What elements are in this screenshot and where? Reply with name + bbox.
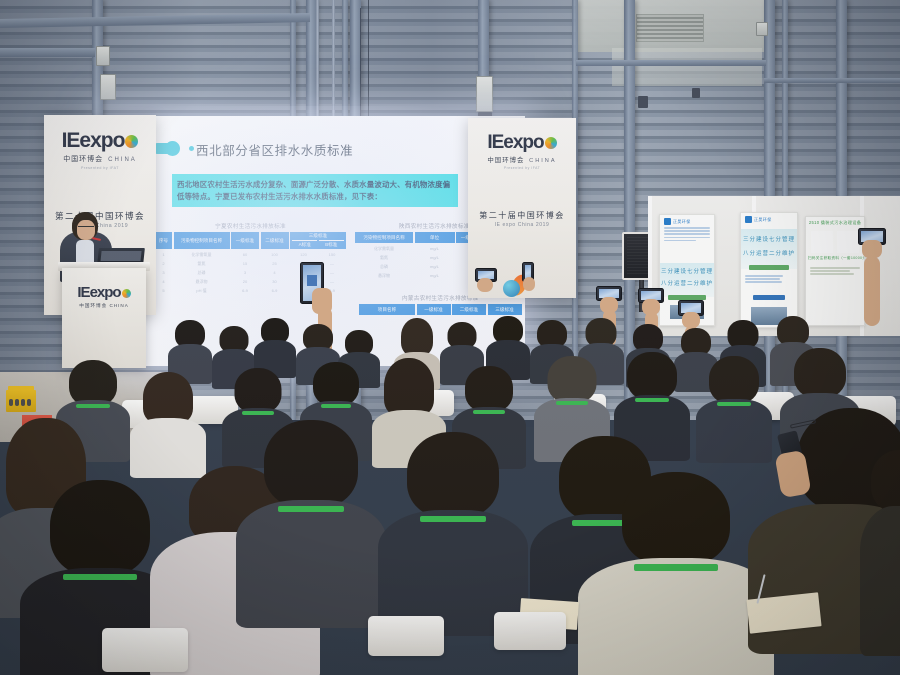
attendee-front [378,432,528,632]
logo-expo-text: expo [79,129,124,152]
cell: 100 [261,251,289,260]
booth-poster-2[interactable]: 正昊环保 三分建设七分管理 八分运营二分维护 [740,212,798,328]
cyan-dot-icon [189,146,194,151]
attendee-far [168,320,212,380]
chair [102,628,188,672]
podium-logo-ie: IE [77,284,89,301]
body [578,558,774,675]
logo-orb-icon [125,135,138,148]
poster-headline-top-1: 三分建设七分管理 [660,267,714,275]
wall-crossbeam-2 [0,48,95,57]
head [384,358,434,416]
banner-right-logo: IEexpo 中国环博会 CHINA Presented by IFAT [468,118,576,170]
cell: 总磷 [355,263,413,272]
cell: 1 [155,251,172,260]
brand-name: 正昊环保 [673,219,691,225]
cell: mg/L [415,245,455,254]
poster-brand-2: 正昊环保 [741,213,797,223]
cell: 3 [155,269,172,278]
head [313,362,359,406]
cell: 氨氮 [174,260,230,269]
th-item: 污染物控制项目名称 [174,232,230,249]
speaker-glasses-icon [78,226,94,229]
phone-holding-hand [523,277,535,291]
attendee-mid [130,372,206,472]
ieexpo-logotype-right: IEexpo [487,132,556,154]
cell: mg/L [415,263,455,272]
lanyard [420,516,486,522]
cell: 悬浮物 [174,277,230,286]
logo-presented-text: Presented by IFAT [468,166,576,170]
wall-vent-grille [636,14,704,42]
podium-logo-orb-icon [122,289,131,298]
cell: mg/L [415,271,455,280]
lanyard [278,506,344,512]
logo-ie-text: IE [62,129,80,152]
table-caption-1: 宁夏农村生活污水排放标准 [155,222,346,230]
lanyard [76,404,110,408]
slide-bullet-marker [152,143,194,154]
head [871,450,900,512]
head [235,368,282,413]
brand-name: 正昊环保 [754,217,772,223]
head [264,420,358,508]
lanyard [635,398,669,402]
poster-brand-1: 正昊环保 [660,215,714,225]
lanyard [242,411,274,415]
highlight-line-1: 西北地区农村生活污水成分复杂、面源广泛分散、水质水量波动大、有机物浓度偏 [177,180,453,190]
phone-holding-hand [477,278,493,292]
cell: 2 [155,260,172,269]
banner-left-footer-cn: 第二十届中国环博会 [44,210,156,222]
table-header-row-1: 序号 污染物控制项目名称 一级标准 二级标准 三级标准 A标准 B标准 [155,232,346,249]
qr-code-row [806,231,864,253]
logo-china-text: CHINA [529,158,556,164]
head [622,472,730,566]
logo-ie-text: IE [487,132,503,153]
poster-band-2 [749,265,789,270]
head [627,352,677,400]
cell: 6-9 [261,286,289,295]
poster-body-text-2 [741,273,797,287]
attendee-front-right-edge [860,450,900,650]
body [860,506,900,656]
podium-logo-expo: expo [90,284,121,301]
head [407,432,499,518]
cell: mg/L [415,254,455,263]
cell: 4 [155,277,172,286]
banner-left-footer-en: IE expo China 2019 [44,223,156,229]
th-unit: 单位 [415,232,455,243]
conference-photo-scene: 西北部分省区排水水质标准 西北地区农村生活污水成分复杂、面源广泛分散、水质水量波… [0,0,900,675]
lanyard [717,402,751,406]
cell: 3 [231,269,259,278]
cell: 120 [290,251,317,260]
podium-logo-cn: 中国环博会 CHINA [62,303,146,309]
podium-logotype: IEexpo [77,284,130,301]
lanyard [473,410,505,414]
wall-junction-box-4 [756,22,768,36]
head [50,480,150,576]
cell: 4 [261,269,289,278]
logo-presented-text: Presented by IFAT [44,166,156,170]
cell: 5 [155,286,172,295]
podium-logo: IEexpo 中国环博会 CHINA [62,268,146,309]
th-level3-subs: A标准 B标准 [292,240,344,249]
lanyard [634,564,718,571]
cell: 6-9 [231,286,259,295]
phone-forearm [864,256,880,326]
slide-title: 西北部分省区排水水质标准 [196,140,353,159]
ieexpo-logotype: IEexpo [62,129,139,153]
head [143,372,193,424]
yellow-equipment-stand [6,390,36,412]
head [465,366,513,412]
podium: IEexpo 中国环博会 CHINA [62,268,146,368]
cell: 总磷 [174,269,230,278]
th-level1: 一级标准 [417,304,451,315]
logo-cn-text: 中国环博会 [487,157,524,164]
decorative-blue-balloon [503,280,520,297]
cell: 30 [261,277,289,286]
poster-body-text-1 [660,225,714,245]
logo-china-text: CHINA [108,157,137,163]
head [401,318,433,356]
brand-mark-icon [745,216,752,223]
lanyard [556,401,588,405]
qr-poster-sub: 扫码关注获取资料（一套10000元） [806,253,864,263]
cell: pH 值 [174,286,230,295]
cell: 化学需氧量 [355,245,413,254]
lanyard [321,404,351,408]
logo-cn-text: 中国环博会 [63,156,103,163]
wall-dark-box-4 [692,88,700,98]
cell: 15 [231,260,259,269]
chair [368,616,444,656]
cell: 氨氮 [355,254,413,263]
cell: 悬浮物 [355,271,413,280]
wall-crossbeam-3 [576,60,766,66]
poster-headline-bottom-1: 八分运营二分维护 [660,279,714,287]
cell: 化学需氧量 [174,251,230,260]
th-level3-group: 三级标准 A标准 B标准 [290,232,346,249]
attendee-front [236,420,386,620]
booth-poster-qr[interactable]: 2510 撬装式污水治理设备 扫码关注获取资料（一套10000元） [805,216,865,326]
highlight-line-2: 低等特点。宁夏已发布农村生活污水排水水质标准，见下表： [177,192,453,202]
qr-code-icon-right[interactable] [837,231,859,253]
qr-poster-headline: 2510 撬装式污水治理设备 [806,217,864,228]
qr-poster-body [806,265,864,279]
lanyard [63,574,137,580]
poster-headline-top-2: 三分建设七分管理 [741,235,797,243]
logo-expo-text: expo [503,132,543,153]
body [236,500,386,628]
poster-cta-band-2 [753,295,785,300]
head [709,356,759,404]
th-level2: 二级标准 [452,304,486,315]
table-header-row-3: 项目名称 一级标准 二级标准 三级标准 [359,304,522,315]
th-level3-a: A标准 [292,240,317,249]
th-level3: 三级标准 [488,304,522,315]
chair [494,612,566,650]
th-level2: 二级标准 [261,232,289,249]
head [548,356,597,403]
cell: 60 [231,251,259,260]
banner-left-logo: IEexpo 中国环博会 CHINA Presented by IFAT [44,115,156,170]
wall-crossbeam-4 [764,78,900,83]
logo-orb-icon [545,137,557,149]
poster-headline-bottom-2: 八分运营二分维护 [741,249,797,257]
cell: 150 [319,251,346,260]
attendee-front-light-jacket [578,472,774,675]
th-level3-label: 三级标准 [309,233,327,239]
cell: 25 [261,260,289,269]
banner-right-footer-cn: 第二十届中国环博会 [468,210,576,221]
slide-highlight-box: 西北地区农村生活污水成分复杂、面源广泛分散、水质水量波动大、有机物浓度偏 低等特… [172,174,458,207]
th-level3-b: B标准 [319,240,344,249]
wall-junction-box-1 [96,46,110,66]
wall-junction-box-3 [476,76,493,112]
banner-right-footer-en: IE expo China 2019 [468,222,576,228]
th-item: 污染物控制项目名称 [355,232,413,243]
wall-cable-2 [368,0,369,130]
cell: 20 [231,277,259,286]
head [794,348,846,398]
th-no: 序号 [155,232,172,249]
wall-junction-box-2 [100,74,116,100]
qr-code-icon-left[interactable] [811,231,833,253]
wall-dark-box-3 [638,96,648,108]
table-row: 1化学需氧量60100120150 [155,251,346,260]
th-level1: 一级标准 [231,232,259,249]
th-item: 项目名称 [359,304,415,315]
brand-mark-icon [664,218,671,225]
